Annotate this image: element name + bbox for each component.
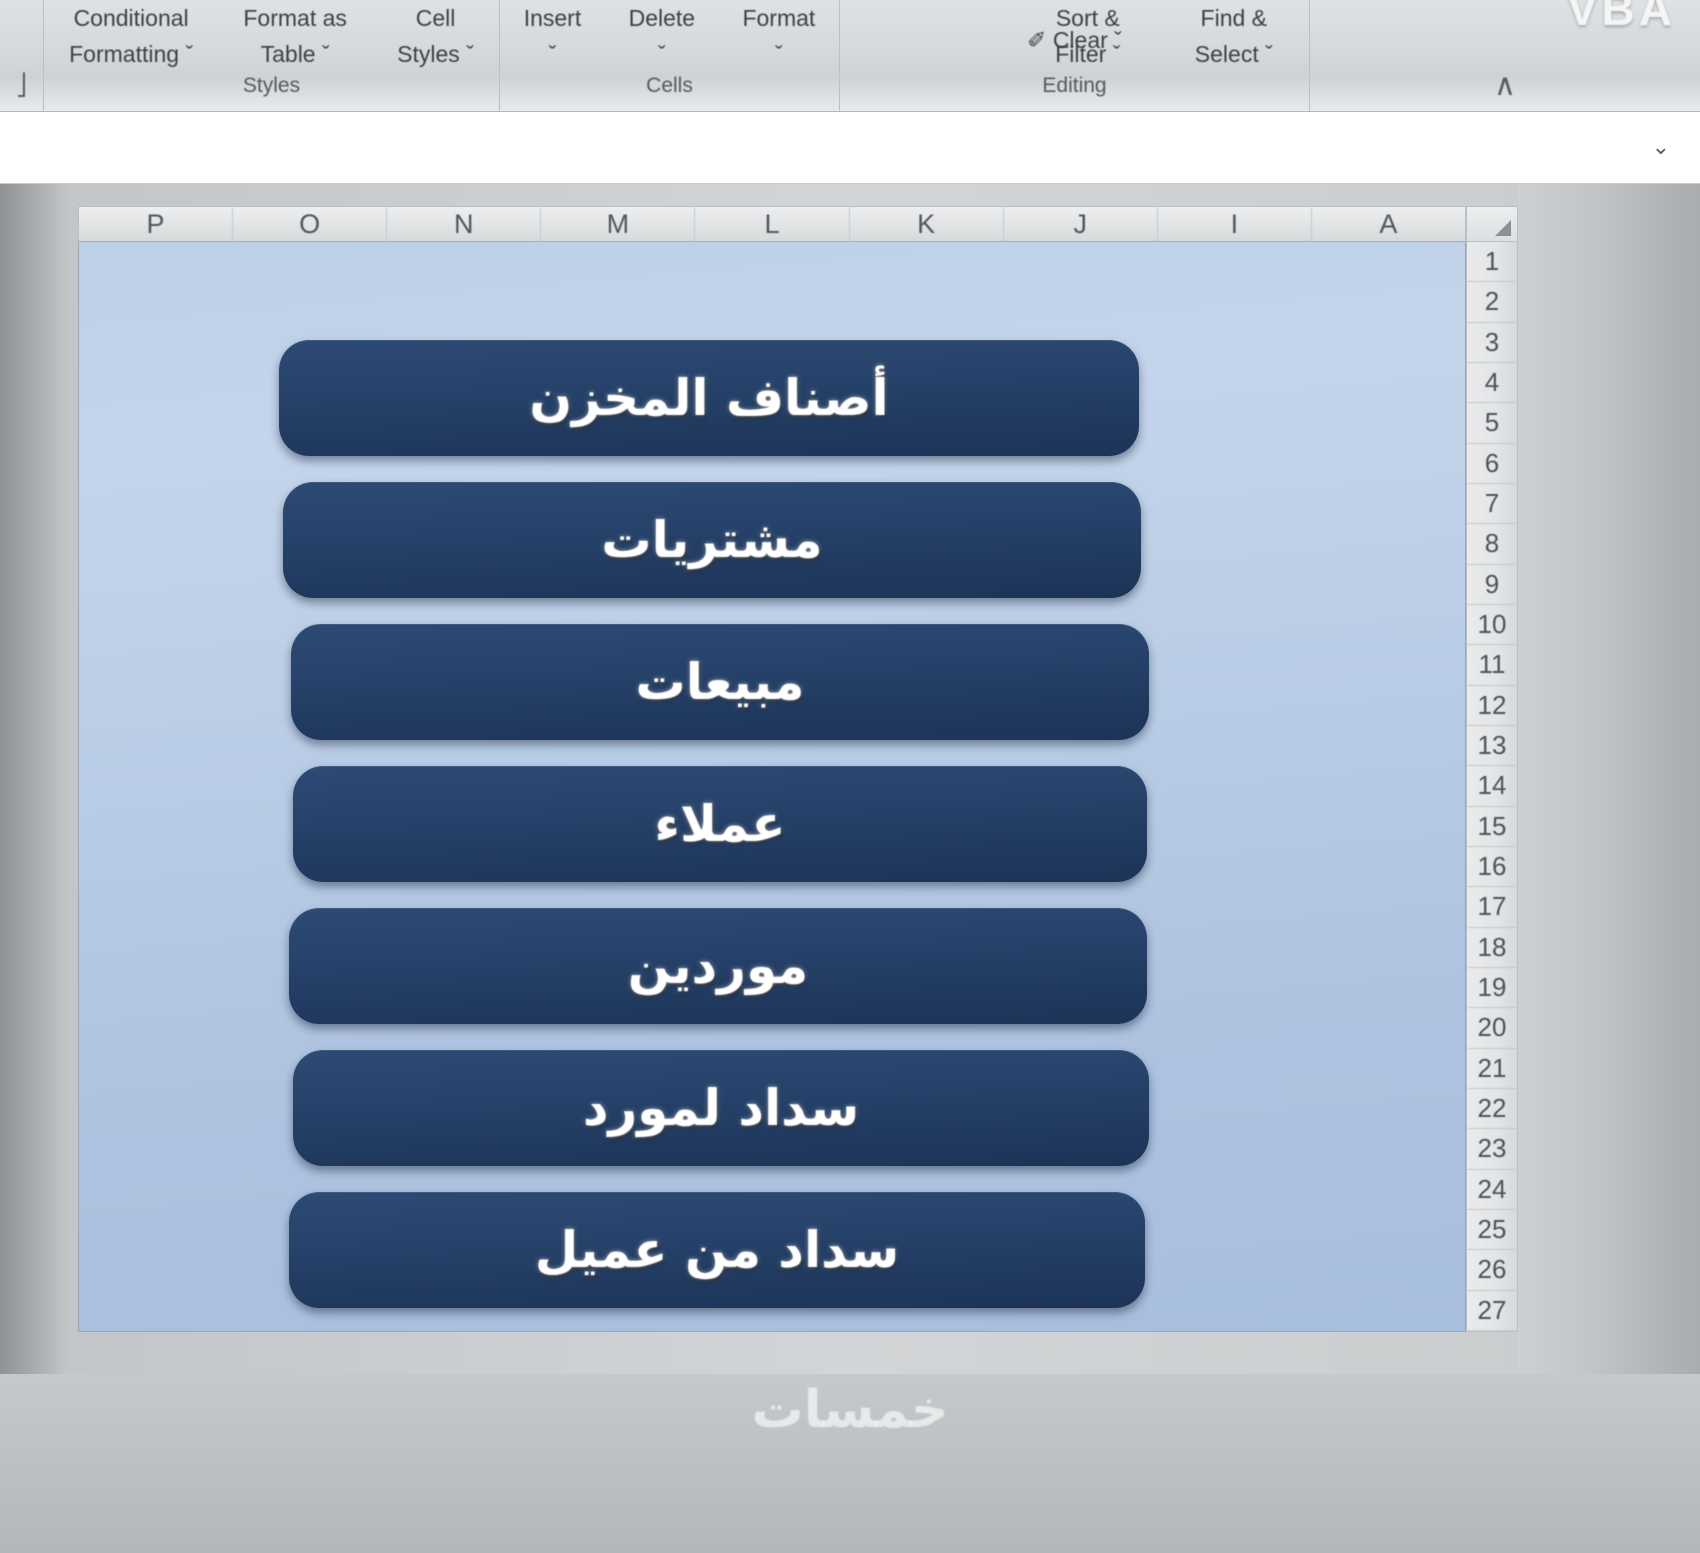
row-header-23[interactable]: 23 bbox=[1467, 1129, 1517, 1169]
select-all-triangle-icon bbox=[1495, 220, 1511, 236]
main-menu-button-stack: أصناف المخزنمشترياتمبيعاتعملاءموردينسداد… bbox=[279, 340, 1159, 1332]
ribbon-cmd-sort-and-filter[interactable]: Sort & Filter ˇ bbox=[1055, 0, 1120, 72]
row-header-3[interactable]: 3 bbox=[1467, 323, 1517, 363]
menu-button-label: سداد لمورد bbox=[583, 1079, 859, 1137]
ribbon-group-label-editing: Editing bbox=[840, 74, 1309, 98]
watermark-text: خمسات bbox=[751, 1380, 948, 1440]
collapse-ribbon-icon[interactable]: ∧ bbox=[1494, 68, 1516, 103]
ribbon-group-label-cells: Cells bbox=[500, 74, 839, 98]
ribbon-cmd-insert[interactable]: Insert ˇ bbox=[524, 0, 582, 72]
menu-button-label: مشتريات bbox=[601, 511, 822, 569]
ribbon-cmd-line1: Cell bbox=[416, 5, 456, 31]
formula-bar[interactable]: ⌄ bbox=[0, 112, 1700, 184]
row-header-1[interactable]: 1 bbox=[1467, 242, 1517, 282]
ribbon-group-number-tail: ⎦ bbox=[0, 0, 44, 112]
menu-button-warehouse-items[interactable]: أصناف المخزن bbox=[279, 340, 1139, 456]
ribbon-cmd-line2: Filter ˇ bbox=[1055, 36, 1120, 72]
ribbon-cmd-line1: Sort & bbox=[1056, 5, 1120, 31]
row-header-24[interactable]: 24 bbox=[1467, 1170, 1517, 1210]
ribbon: ⎦ Conditional Formatting ˇ Format as Tab… bbox=[0, 0, 1700, 112]
excel-window: ⎦ Conditional Formatting ˇ Format as Tab… bbox=[0, 0, 1700, 1553]
row-header-6[interactable]: 6 bbox=[1467, 444, 1517, 484]
menu-button-sales[interactable]: مبيعات bbox=[291, 624, 1149, 740]
column-header-o[interactable]: O bbox=[233, 207, 387, 241]
ribbon-cmd-delete[interactable]: Delete ˇ bbox=[629, 0, 695, 72]
sheet-canvas[interactable]: أصناف المخزنمشترياتمبيعاتعملاءموردينسداد… bbox=[78, 242, 1466, 1332]
column-header-row: PONMLKJIA bbox=[78, 206, 1466, 242]
ribbon-cmd-line1: Conditional bbox=[74, 5, 189, 31]
menu-button-label: أصناف المخزن bbox=[529, 369, 888, 427]
watermark-bar: خمسات bbox=[0, 1374, 1700, 1553]
column-header-n[interactable]: N bbox=[387, 207, 541, 241]
column-header-p[interactable]: P bbox=[79, 207, 233, 241]
ribbon-cmd-line1: Format as bbox=[243, 5, 347, 31]
row-header-10[interactable]: 10 bbox=[1467, 605, 1517, 645]
menu-button-label: مبيعات bbox=[635, 653, 804, 711]
row-header-26[interactable]: 26 bbox=[1467, 1250, 1517, 1290]
row-header-14[interactable]: 14 bbox=[1467, 766, 1517, 806]
ribbon-cmd-line2: ˇ bbox=[524, 36, 582, 72]
menu-button-label: سداد من عميل bbox=[535, 1221, 899, 1279]
right-gutter bbox=[1518, 184, 1700, 1374]
column-header-j[interactable]: J bbox=[1004, 207, 1158, 241]
ribbon-cmd-cell-styles[interactable]: Cell Styles ˇ bbox=[397, 0, 474, 72]
ribbon-group-label-styles: Styles bbox=[44, 74, 499, 98]
row-header-20[interactable]: 20 bbox=[1467, 1008, 1517, 1048]
ribbon-group-label-number: ⎦ bbox=[0, 73, 43, 98]
row-header-13[interactable]: 13 bbox=[1467, 726, 1517, 766]
row-header-15[interactable]: 15 bbox=[1467, 807, 1517, 847]
worksheet-area: PONMLKJIA أصناف المخزنمشترياتمبيعاتعملاء… bbox=[0, 184, 1700, 1374]
column-header-k[interactable]: K bbox=[850, 207, 1004, 241]
ribbon-group-editing: ✐ Clear ˇ Sort & Filter ˇ Find & Select … bbox=[840, 0, 1310, 112]
ribbon-cmd-line1: Delete bbox=[629, 5, 695, 31]
menu-button-label: موردين bbox=[628, 937, 809, 995]
ribbon-cmd-line1: Format bbox=[742, 5, 815, 31]
ribbon-cmd-format[interactable]: Format ˇ bbox=[742, 0, 815, 72]
ribbon-group-cells: Insert ˇ Delete ˇ Format ˇ Cells bbox=[500, 0, 840, 112]
vba-tab-label: VBA bbox=[1567, 0, 1676, 36]
column-header-a[interactable]: A bbox=[1312, 207, 1465, 241]
ribbon-cmd-line2: Styles ˇ bbox=[397, 36, 474, 72]
select-all-corner[interactable] bbox=[1466, 206, 1518, 242]
ribbon-cmd-line2: Select ˇ bbox=[1195, 36, 1273, 72]
row-header-2[interactable]: 2 bbox=[1467, 282, 1517, 322]
row-header-17[interactable]: 17 bbox=[1467, 887, 1517, 927]
row-header-11[interactable]: 11 bbox=[1467, 645, 1517, 685]
ribbon-cmd-line2: ˇ bbox=[629, 36, 695, 72]
row-header-22[interactable]: 22 bbox=[1467, 1089, 1517, 1129]
ribbon-cmd-find-and-select[interactable]: Find & Select ˇ bbox=[1195, 0, 1273, 72]
ribbon-cmd-line1: Insert bbox=[524, 5, 582, 31]
menu-button-customers[interactable]: عملاء bbox=[293, 766, 1147, 882]
ribbon-cmd-conditional-formatting[interactable]: Conditional Formatting ˇ bbox=[69, 0, 193, 72]
ribbon-cmd-line2: Table ˇ bbox=[243, 36, 347, 72]
row-header-column: 1234567891011121314151617181920212223242… bbox=[1466, 242, 1518, 1332]
ribbon-cmd-format-as-table[interactable]: Format as Table ˇ bbox=[243, 0, 347, 72]
ribbon-cmd-line2: ˇ bbox=[742, 36, 815, 72]
row-header-8[interactable]: 8 bbox=[1467, 524, 1517, 564]
menu-button-payment-from-customer[interactable]: سداد من عميل bbox=[289, 1192, 1145, 1308]
menu-button-label: عملاء bbox=[654, 795, 785, 853]
row-header-5[interactable]: 5 bbox=[1467, 403, 1517, 443]
ribbon-cmd-line1: Find & bbox=[1201, 5, 1267, 31]
row-header-18[interactable]: 18 bbox=[1467, 928, 1517, 968]
row-header-7[interactable]: 7 bbox=[1467, 484, 1517, 524]
row-header-16[interactable]: 16 bbox=[1467, 847, 1517, 887]
row-header-12[interactable]: 12 bbox=[1467, 686, 1517, 726]
row-header-27[interactable]: 27 bbox=[1467, 1291, 1517, 1331]
menu-button-payment-to-supplier[interactable]: سداد لمورد bbox=[293, 1050, 1149, 1166]
column-header-m[interactable]: M bbox=[541, 207, 695, 241]
ribbon-group-styles: Conditional Formatting ˇ Format as Table… bbox=[44, 0, 500, 112]
column-header-l[interactable]: L bbox=[695, 207, 849, 241]
menu-button-purchases[interactable]: مشتريات bbox=[283, 482, 1141, 598]
menu-button-suppliers[interactable]: موردين bbox=[289, 908, 1147, 1024]
chevron-down-icon[interactable]: ⌄ bbox=[1652, 134, 1670, 160]
row-header-4[interactable]: 4 bbox=[1467, 363, 1517, 403]
ribbon-cmd-line2: Formatting ˇ bbox=[69, 36, 193, 72]
row-header-25[interactable]: 25 bbox=[1467, 1210, 1517, 1250]
row-header-9[interactable]: 9 bbox=[1467, 565, 1517, 605]
row-header-21[interactable]: 21 bbox=[1467, 1049, 1517, 1089]
row-header-19[interactable]: 19 bbox=[1467, 968, 1517, 1008]
column-header-i[interactable]: I bbox=[1158, 207, 1312, 241]
